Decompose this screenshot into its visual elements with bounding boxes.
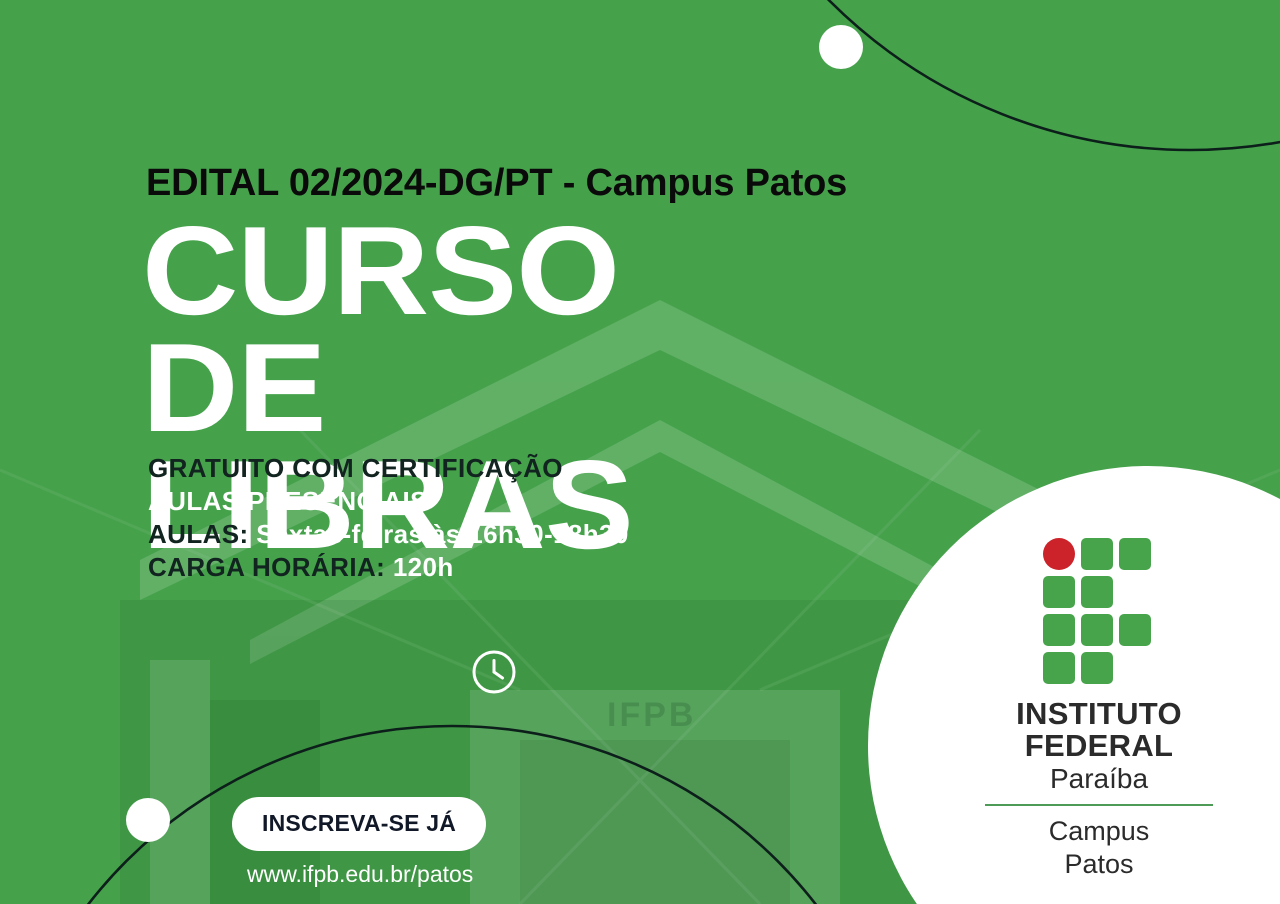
clock-icon <box>470 648 518 696</box>
logo-cell-r1c2 <box>1081 538 1113 570</box>
detail-row-3: CARGA HORÁRIA: 120h <box>148 551 629 584</box>
detail-label-2: AULAS: <box>148 519 249 549</box>
logo-cell-r4c2 <box>1081 652 1113 684</box>
logo-text-federal: FEDERAL <box>985 730 1213 762</box>
ifpb-logo-mark <box>1043 538 1155 684</box>
detail-label-0: GRATUITO COM CERTIFICAÇÃO <box>148 453 563 483</box>
logo-cell-r2c2 <box>1081 576 1113 608</box>
logo-cell-r1c1 <box>1043 538 1075 570</box>
logo-text-instituto: INSTITUTO <box>985 698 1213 730</box>
detail-value-2: Sextas-feiras às 16h30-18h30 <box>256 519 629 549</box>
detail-row-1: AULAS PRESENCIAIS <box>148 485 629 518</box>
logo-cell-r4c3 <box>1119 652 1151 684</box>
logo-text-state: Paraíba <box>985 762 1213 796</box>
poster-canvas: IFPB INSTITUTO F <box>0 0 1280 904</box>
logo-cell-r4c1 <box>1043 652 1075 684</box>
logo-divider <box>985 804 1213 806</box>
detail-label-1: AULAS PRESENCIAIS <box>148 486 428 516</box>
detail-row-0: GRATUITO COM CERTIFICAÇÃO <box>148 452 629 485</box>
detail-value-3: 120h <box>393 552 454 582</box>
ifpb-logo: INSTITUTO FEDERAL Paraíba Campus Patos <box>985 538 1213 880</box>
logo-text-campus-name: Patos <box>985 848 1213 880</box>
logo-cell-r1c3 <box>1119 538 1151 570</box>
detail-row-2: AULAS: Sextas-feiras às 16h30-18h30 <box>148 518 629 551</box>
logo-text-campus: Campus <box>985 815 1213 847</box>
title-line-1: CURSO DE <box>142 212 633 446</box>
logo-cell-r3c2 <box>1081 614 1113 646</box>
enroll-button[interactable]: INSCREVA-SE JÁ <box>232 797 486 851</box>
detail-label-3: CARGA HORÁRIA: <box>148 552 385 582</box>
logo-cell-r2c3 <box>1119 576 1151 608</box>
course-details: GRATUITO COM CERTIFICAÇÃO AULAS PRESENCI… <box>148 452 629 584</box>
logo-cell-r2c1 <box>1043 576 1075 608</box>
logo-cell-r3c1 <box>1043 614 1075 646</box>
website-url[interactable]: www.ifpb.edu.br/patos <box>247 861 473 888</box>
logo-cell-r3c3 <box>1119 614 1151 646</box>
edital-heading: EDITAL 02/2024-DG/PT - Campus Patos <box>146 162 847 205</box>
svg-text:IFPB: IFPB <box>607 696 696 734</box>
